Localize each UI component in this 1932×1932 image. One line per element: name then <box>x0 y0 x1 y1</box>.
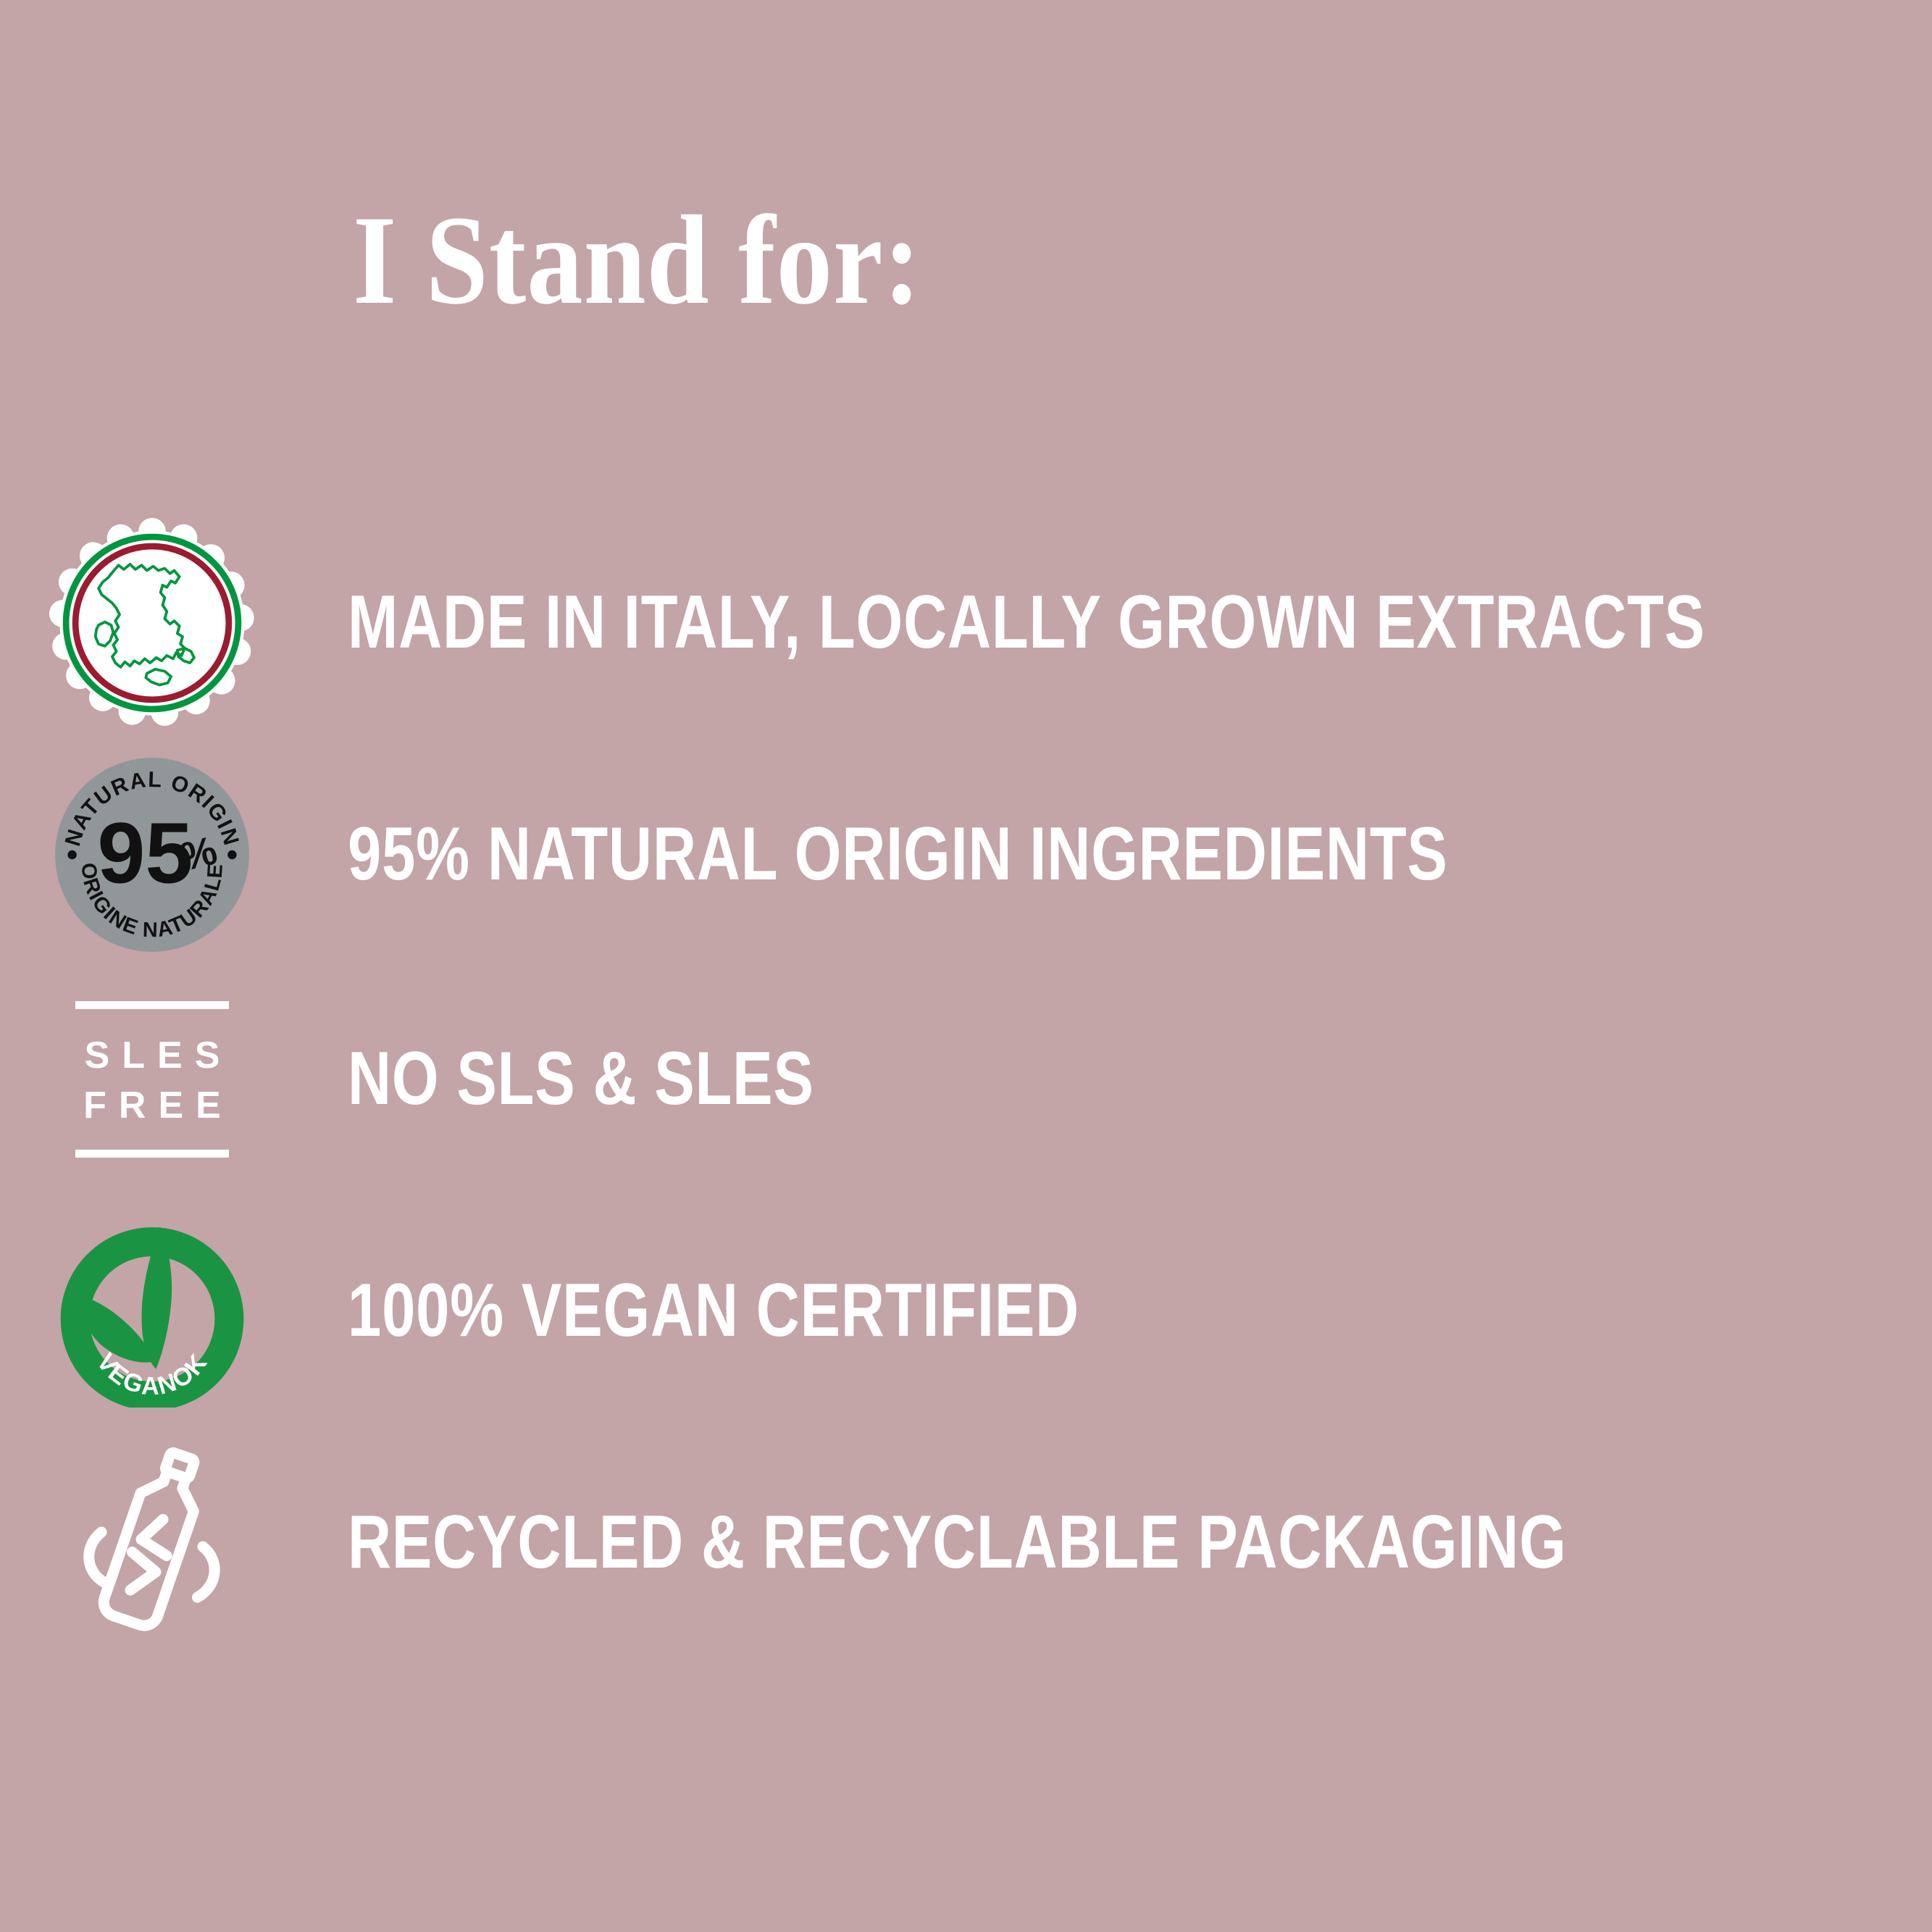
claim-row-packaging: RECYCLED & RECYCLABLE PACKAGING <box>0 1434 1932 1652</box>
badge-cell-made-in-italy <box>0 514 304 732</box>
recycled-bottle-icon <box>62 1445 243 1641</box>
claim-label-sles-free: NO SLS & SLES <box>348 1040 814 1118</box>
natural-origin-badge: NATURAL ORIGIN ORIGINE NATURALE 95 % <box>52 755 252 955</box>
sles-line-2: FREE <box>71 1081 233 1131</box>
sles-line-1: SLES <box>72 1031 233 1081</box>
claim-row-made-in-italy: MADE IN ITALY, LOCALLY GROWN EXTRACTS <box>0 514 1932 732</box>
claim-row-natural-origin: NATURAL ORIGIN ORIGINE NATURALE 95 % 95%… <box>0 746 1932 963</box>
claim-row-sles-free: SLES FREE NO SLS & SLES <box>0 971 1932 1188</box>
claim-row-vegan: VEGANOK 100% VEGAN CERTIFIED <box>0 1203 1932 1420</box>
badge-cell-natural-origin: NATURAL ORIGIN ORIGINE NATURALE 95 % <box>0 746 304 963</box>
poster-canvas: I Stand for: <box>0 0 1932 1932</box>
claim-label-vegan: 100% VEGAN CERTIFIED <box>348 1271 1079 1350</box>
claim-label-made-in-italy: MADE IN ITALY, LOCALLY GROWN EXTRACTS <box>348 583 1705 662</box>
page-title: I Stand for: <box>353 197 921 325</box>
claim-label-natural-origin: 95% NATURAL ORIGIN INGREDIENTS <box>348 815 1448 894</box>
natural-origin-value: 95 <box>97 806 193 902</box>
badge-cell-sles-free: SLES FREE <box>0 971 304 1188</box>
claim-label-packaging: RECYCLED & RECYCLABLE PACKAGING <box>348 1503 1567 1582</box>
badge-cell-packaging <box>0 1434 304 1652</box>
sles-free-badge: SLES FREE <box>62 989 243 1170</box>
made-in-italy-badge <box>47 518 257 728</box>
badge-cell-vegan: VEGANOK <box>0 1203 304 1420</box>
sles-rule-top <box>75 1001 229 1009</box>
sles-wordmark: SLES FREE <box>71 1009 233 1149</box>
sles-rule-bottom <box>75 1150 229 1158</box>
veganok-badge: VEGANOK <box>56 1215 248 1408</box>
